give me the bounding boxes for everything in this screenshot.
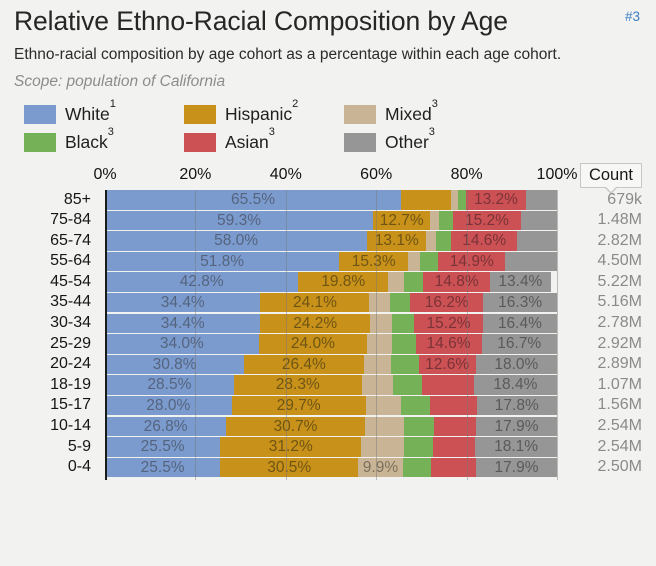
row-label-age-cohort: 65-74 xyxy=(14,231,91,252)
bar-segment-value-label: 13.4% xyxy=(498,272,542,292)
table-row[interactable]: 30-3434.4%24.2%15.2%16.4%2.78M xyxy=(14,313,642,334)
bar-segment-mixed[interactable] xyxy=(367,334,391,354)
bar-segment-black[interactable] xyxy=(401,396,430,416)
bar-segment-value-label: 17.9% xyxy=(495,458,539,478)
legend-label-mixed: Mixed3 xyxy=(385,104,438,125)
chart: Count 0%20%40%60%80%100% 85+65.5%13.2%67… xyxy=(14,166,642,486)
bar-segment-value-label: 14.6% xyxy=(462,231,506,251)
bar-segment-other[interactable] xyxy=(505,252,557,272)
stacked-bar: 34.0%24.0%14.6%16.7% xyxy=(105,334,557,354)
bar-segment-value-label: 26.4% xyxy=(282,355,326,375)
row-count-value: 2.78M xyxy=(562,313,642,334)
bar-segment-hispanic[interactable] xyxy=(401,190,451,210)
bar-segment-value-label: 13.2% xyxy=(474,190,518,210)
row-count-value: 1.48M xyxy=(562,210,642,231)
bar-segment-other[interactable] xyxy=(517,231,557,251)
table-row[interactable]: 0-425.5%30.5%9.9%17.9%2.50M xyxy=(14,457,642,478)
bar-segment-asian[interactable] xyxy=(422,375,474,395)
bar-segment-black[interactable] xyxy=(436,231,451,251)
bar-segment-white[interactable]: 42.8% xyxy=(105,272,298,292)
bar-segment-white[interactable]: 28.0% xyxy=(105,396,232,416)
stacked-bar: 26.8%30.7%17.9% xyxy=(105,417,557,437)
bar-segment-black[interactable] xyxy=(391,355,419,375)
bar-segment-asian[interactable]: 14.8% xyxy=(423,272,490,292)
bar-segment-white[interactable]: 65.5% xyxy=(105,190,401,210)
bar-segment-value-label: 15.3% xyxy=(352,252,396,272)
bar-segment-hispanic[interactable]: 15.3% xyxy=(339,252,408,272)
bar-segment-mixed[interactable] xyxy=(362,375,394,395)
bar-segment-black[interactable] xyxy=(392,314,414,334)
bar-segment-black[interactable] xyxy=(393,375,422,395)
bar-segment-value-label: 9.9% xyxy=(363,458,398,478)
bar-segment-value-label: 14.9% xyxy=(450,252,494,272)
legend-swatch-white xyxy=(24,105,56,124)
bar-segment-mixed[interactable] xyxy=(370,314,393,334)
bar-segment-hispanic[interactable]: 24.1% xyxy=(260,293,369,313)
legend-footnote-marker: 3 xyxy=(269,126,275,138)
bar-segment-value-label: 30.5% xyxy=(267,458,311,478)
row-count-value: 2.50M xyxy=(562,457,642,478)
bar-segment-asian[interactable] xyxy=(434,417,476,437)
legend-item-mixed[interactable]: Mixed3 xyxy=(344,104,504,125)
bar-segment-white[interactable]: 34.4% xyxy=(105,293,260,313)
row-count-value: 2.92M xyxy=(562,334,642,355)
bar-segment-mixed[interactable] xyxy=(451,190,458,210)
bar-segment-white[interactable]: 25.5% xyxy=(105,437,220,457)
x-tick-100: 100% xyxy=(537,166,578,184)
bar-segment-black[interactable] xyxy=(392,334,416,354)
bar-segment-value-label: 13.1% xyxy=(375,231,419,251)
bar-segment-white[interactable]: 28.5% xyxy=(105,375,234,395)
bar-segment-value-label: 31.2% xyxy=(269,437,313,457)
bar-segment-value-label: 24.0% xyxy=(291,334,335,354)
bar-segment-white[interactable]: 30.8% xyxy=(105,355,244,375)
table-row[interactable]: 85+65.5%13.2%679k xyxy=(14,190,642,211)
bar-segment-value-label: 34.4% xyxy=(161,293,205,313)
bar-segment-asian[interactable]: 12.6% xyxy=(419,355,476,375)
bar-segment-mixed[interactable] xyxy=(369,293,390,313)
bar-segment-value-label: 25.5% xyxy=(141,437,185,457)
bar-segment-asian[interactable]: 14.6% xyxy=(416,334,482,354)
stacked-bar: 30.8%26.4%12.6%18.0% xyxy=(105,355,557,375)
bar-segment-value-label: 15.2% xyxy=(427,314,471,334)
stacked-bar: 28.5%28.3%18.4% xyxy=(105,375,557,395)
stacked-bar: 51.8%15.3%14.9% xyxy=(105,252,557,272)
legend-label-white: White1 xyxy=(65,104,116,125)
bar-segment-white[interactable]: 34.4% xyxy=(105,314,260,334)
bar-segment-value-label: 26.8% xyxy=(144,417,188,437)
bar-segment-black[interactable] xyxy=(390,293,410,313)
bar-segment-mixed[interactable] xyxy=(426,231,435,251)
bar-segment-mixed[interactable] xyxy=(365,417,404,437)
stacked-bar: 65.5%13.2% xyxy=(105,190,557,210)
bar-segment-black[interactable] xyxy=(404,272,423,292)
row-label-age-cohort: 0-4 xyxy=(14,457,91,478)
bar-segment-other[interactable] xyxy=(521,211,557,231)
x-axis-tick-labels: Count 0%20%40%60%80%100% xyxy=(14,166,642,188)
bar-segment-value-label: 30.8% xyxy=(153,355,197,375)
bar-segment-other[interactable]: 17.8% xyxy=(477,396,557,416)
table-row[interactable]: 35-4434.4%24.1%16.2%16.3%5.16M xyxy=(14,292,642,313)
bar-segment-other[interactable]: 18.0% xyxy=(476,355,557,375)
bar-segment-mixed[interactable] xyxy=(430,211,439,231)
bar-segment-value-label: 28.3% xyxy=(276,375,320,395)
bar-segment-white[interactable]: 25.5% xyxy=(105,458,220,478)
bar-segment-other[interactable]: 13.4% xyxy=(490,272,551,292)
bar-segment-hispanic[interactable]: 19.8% xyxy=(298,272,387,292)
table-row[interactable]: 5-925.5%31.2%18.1%2.54M xyxy=(14,437,642,458)
bar-segment-value-label: 24.2% xyxy=(293,314,337,334)
bar-segment-value-label: 14.8% xyxy=(435,272,479,292)
row-label-age-cohort: 5-9 xyxy=(14,437,91,458)
bar-segment-asian[interactable]: 14.9% xyxy=(438,252,505,272)
bar-segment-black[interactable] xyxy=(404,437,433,457)
bar-segment-hispanic[interactable]: 31.2% xyxy=(220,437,361,457)
table-row[interactable]: 45-5442.8%19.8%14.8%13.4%5.22M xyxy=(14,272,642,293)
bar-segment-other[interactable]: 17.9% xyxy=(476,417,557,437)
row-count-value: 5.16M xyxy=(562,292,642,313)
legend-item-black[interactable]: Black3 xyxy=(24,132,184,153)
bar-segment-black[interactable] xyxy=(404,417,433,437)
stacked-bar: 58.0%13.1%14.6% xyxy=(105,231,557,251)
bar-segment-value-label: 16.7% xyxy=(497,334,541,354)
bar-segment-white[interactable]: 26.8% xyxy=(105,417,226,437)
legend-item-white[interactable]: White1 xyxy=(24,104,184,125)
legend-footnote-marker: 2 xyxy=(292,98,298,110)
bar-segment-asian[interactable] xyxy=(430,396,476,416)
bar-segment-value-label: 65.5% xyxy=(231,190,275,210)
row-count-value: 4.50M xyxy=(562,251,642,272)
bar-segment-value-label: 42.8% xyxy=(180,272,224,292)
bar-segment-value-label: 28.0% xyxy=(146,396,190,416)
bar-segment-white[interactable]: 51.8% xyxy=(105,252,339,272)
bar-segment-other[interactable]: 18.1% xyxy=(475,437,557,457)
x-tick-20: 20% xyxy=(179,166,211,184)
bar-segment-asian[interactable] xyxy=(431,458,476,478)
bar-segment-asian[interactable]: 15.2% xyxy=(453,211,522,231)
bar-segment-hispanic[interactable]: 30.7% xyxy=(226,417,365,437)
row-count-value: 5.22M xyxy=(562,272,642,293)
bar-segment-mixed[interactable] xyxy=(408,252,420,272)
stacked-bar: 28.0%29.7%17.8% xyxy=(105,396,557,416)
bar-segment-value-label: 28.5% xyxy=(147,375,191,395)
table-row[interactable]: 65-7458.0%13.1%14.6%2.82M xyxy=(14,231,642,252)
row-label-age-cohort: 75-84 xyxy=(14,210,91,231)
bar-segment-mixed[interactable] xyxy=(388,272,404,292)
bar-segment-hispanic[interactable]: 26.4% xyxy=(244,355,363,375)
bar-segment-value-label: 58.0% xyxy=(214,231,258,251)
legend-footnote-marker: 1 xyxy=(110,98,116,110)
bar-segment-value-label: 12.6% xyxy=(425,355,469,375)
row-label-age-cohort: 55-64 xyxy=(14,251,91,272)
bar-segment-value-label: 18.1% xyxy=(494,437,538,457)
bar-segment-value-label: 15.2% xyxy=(465,211,509,231)
bar-segment-value-label: 59.3% xyxy=(217,211,261,231)
scope-text: Scope: population of California xyxy=(14,71,642,93)
page-title: Relative Ethno-Racial Composition by Age xyxy=(14,4,508,38)
bar-segment-white[interactable]: 34.0% xyxy=(105,334,259,354)
chart-page: Relative Ethno-Racial Composition by Age… xyxy=(0,0,656,566)
bar-segment-black[interactable] xyxy=(458,190,466,210)
table-row[interactable]: 15-1728.0%29.7%17.8%1.56M xyxy=(14,395,642,416)
x-tick-40: 40% xyxy=(270,166,302,184)
plot-area: 85+65.5%13.2%679k75-8459.3%12.7%15.2%1.4… xyxy=(14,190,642,486)
bar-segment-hispanic[interactable]: 28.3% xyxy=(234,375,362,395)
row-label-age-cohort: 18-19 xyxy=(14,375,91,396)
bar-segment-value-label: 12.7% xyxy=(380,211,424,231)
rank-badge[interactable]: #3 xyxy=(625,9,640,24)
legend-swatch-other xyxy=(344,133,376,152)
bar-segment-hispanic[interactable]: 29.7% xyxy=(232,396,366,416)
x-tick-80: 80% xyxy=(451,166,483,184)
table-row[interactable]: 20-2430.8%26.4%12.6%18.0%2.89M xyxy=(14,354,642,375)
bar-segment-value-label: 51.8% xyxy=(200,252,244,272)
table-row[interactable]: 10-1426.8%30.7%17.9%2.54M xyxy=(14,416,642,437)
bar-segment-value-label: 24.1% xyxy=(293,293,337,313)
stacked-bar: 25.5%30.5%9.9%17.9% xyxy=(105,458,557,478)
subtitle: Ethno-racial composition by age cohort a… xyxy=(14,44,624,67)
bar-segment-mixed[interactable] xyxy=(366,396,401,416)
bar-segment-other[interactable]: 17.9% xyxy=(476,458,557,478)
row-count-value: 2.89M xyxy=(562,354,642,375)
legend-label-other: Other3 xyxy=(385,132,435,153)
legend-item-hispanic[interactable]: Hispanic2 xyxy=(184,104,344,125)
bar-segment-value-label: 17.9% xyxy=(495,417,539,437)
x-tick-0: 0% xyxy=(93,166,116,184)
bar-segment-white[interactable]: 58.0% xyxy=(105,231,367,251)
bar-segment-value-label: 16.4% xyxy=(498,314,542,334)
row-label-age-cohort: 85+ xyxy=(14,190,91,211)
stacked-bar: 25.5%31.2%18.1% xyxy=(105,437,557,457)
x-tick-60: 60% xyxy=(360,166,392,184)
row-count-value: 2.54M xyxy=(562,437,642,458)
row-label-age-cohort: 20-24 xyxy=(14,354,91,375)
bar-segment-other[interactable] xyxy=(526,190,557,210)
row-label-age-cohort: 35-44 xyxy=(14,292,91,313)
bar-segment-asian[interactable]: 14.6% xyxy=(451,231,517,251)
row-label-age-cohort: 25-29 xyxy=(14,334,91,355)
bar-segment-asian[interactable]: 15.2% xyxy=(414,314,483,334)
bar-segment-value-label: 14.6% xyxy=(427,334,471,354)
legend-footnote-marker: 3 xyxy=(429,126,435,138)
bar-segment-asian[interactable]: 13.2% xyxy=(466,190,526,210)
bar-rows: 85+65.5%13.2%679k75-8459.3%12.7%15.2%1.4… xyxy=(14,190,642,478)
bar-segment-hispanic[interactable]: 12.7% xyxy=(373,211,430,231)
stacked-bar: 34.4%24.1%16.2%16.3% xyxy=(105,293,557,313)
legend-swatch-black xyxy=(24,133,56,152)
legend-item-asian[interactable]: Asian3 xyxy=(184,132,344,153)
legend-footnote-marker: 3 xyxy=(108,126,114,138)
bar-segment-mixed[interactable] xyxy=(364,355,392,375)
bar-segment-mixed[interactable] xyxy=(361,437,403,457)
legend-footnote-marker: 3 xyxy=(432,98,438,110)
stacked-bar: 42.8%19.8%14.8%13.4% xyxy=(105,272,557,292)
bar-segment-other[interactable]: 16.4% xyxy=(483,314,557,334)
stacked-bar: 59.3%12.7%15.2% xyxy=(105,211,557,231)
legend-swatch-asian xyxy=(184,133,216,152)
bar-segment-mixed[interactable]: 9.9% xyxy=(358,458,403,478)
bar-segment-black[interactable] xyxy=(403,458,431,478)
bar-segment-hispanic[interactable]: 24.0% xyxy=(259,334,367,354)
bar-segment-value-label: 17.8% xyxy=(495,396,539,416)
bar-segment-black[interactable] xyxy=(420,252,438,272)
row-label-age-cohort: 30-34 xyxy=(14,313,91,334)
bar-segment-white[interactable]: 59.3% xyxy=(105,211,373,231)
bar-segment-value-label: 16.2% xyxy=(425,293,469,313)
bar-segment-value-label: 34.0% xyxy=(160,334,204,354)
bar-segment-value-label: 34.4% xyxy=(161,314,205,334)
legend-swatch-mixed xyxy=(344,105,376,124)
count-column-header[interactable]: Count xyxy=(580,163,642,188)
bar-segment-value-label: 16.3% xyxy=(498,293,542,313)
row-count-value: 1.56M xyxy=(562,395,642,416)
row-count-value: 2.82M xyxy=(562,231,642,252)
header: Relative Ethno-Racial Composition by Age… xyxy=(14,0,642,38)
bar-segment-hispanic[interactable]: 13.1% xyxy=(367,231,426,251)
bar-segment-value-label: 30.7% xyxy=(274,417,318,437)
row-label-age-cohort: 15-17 xyxy=(14,395,91,416)
legend-item-other[interactable]: Other3 xyxy=(344,132,504,153)
bar-segment-value-label: 29.7% xyxy=(277,396,321,416)
bar-segment-value-label: 25.5% xyxy=(141,458,185,478)
table-row[interactable]: 75-8459.3%12.7%15.2%1.48M xyxy=(14,210,642,231)
row-count-value: 2.54M xyxy=(562,416,642,437)
legend-label-hispanic: Hispanic2 xyxy=(225,104,298,125)
bar-segment-other[interactable]: 18.4% xyxy=(474,375,557,395)
bar-segment-asian[interactable] xyxy=(433,437,475,457)
bar-segment-black[interactable] xyxy=(439,211,453,231)
bar-segment-other[interactable]: 16.7% xyxy=(482,334,557,354)
table-row[interactable]: 18-1928.5%28.3%18.4%1.07M xyxy=(14,375,642,396)
table-row[interactable]: 55-6451.8%15.3%14.9%4.50M xyxy=(14,251,642,272)
table-row[interactable]: 25-2934.0%24.0%14.6%16.7%2.92M xyxy=(14,334,642,355)
bar-segment-hispanic[interactable]: 30.5% xyxy=(220,458,358,478)
bar-segment-hispanic[interactable]: 24.2% xyxy=(260,314,369,334)
row-label-age-cohort: 45-54 xyxy=(14,272,91,293)
bar-segment-value-label: 19.8% xyxy=(321,272,365,292)
row-label-age-cohort: 10-14 xyxy=(14,416,91,437)
bar-segment-asian[interactable]: 16.2% xyxy=(410,293,483,313)
bar-segment-value-label: 18.0% xyxy=(494,355,538,375)
legend: White1Hispanic2Mixed3Black3Asian3Other3 xyxy=(14,101,642,157)
bar-segment-other[interactable]: 16.3% xyxy=(483,293,557,313)
row-count-value: 679k xyxy=(562,190,642,211)
legend-label-asian: Asian3 xyxy=(225,132,275,153)
bar-segment-value-label: 18.4% xyxy=(493,375,537,395)
legend-swatch-hispanic xyxy=(184,105,216,124)
stacked-bar: 34.4%24.2%15.2%16.4% xyxy=(105,314,557,334)
legend-label-black: Black3 xyxy=(65,132,114,153)
row-count-value: 1.07M xyxy=(562,375,642,396)
